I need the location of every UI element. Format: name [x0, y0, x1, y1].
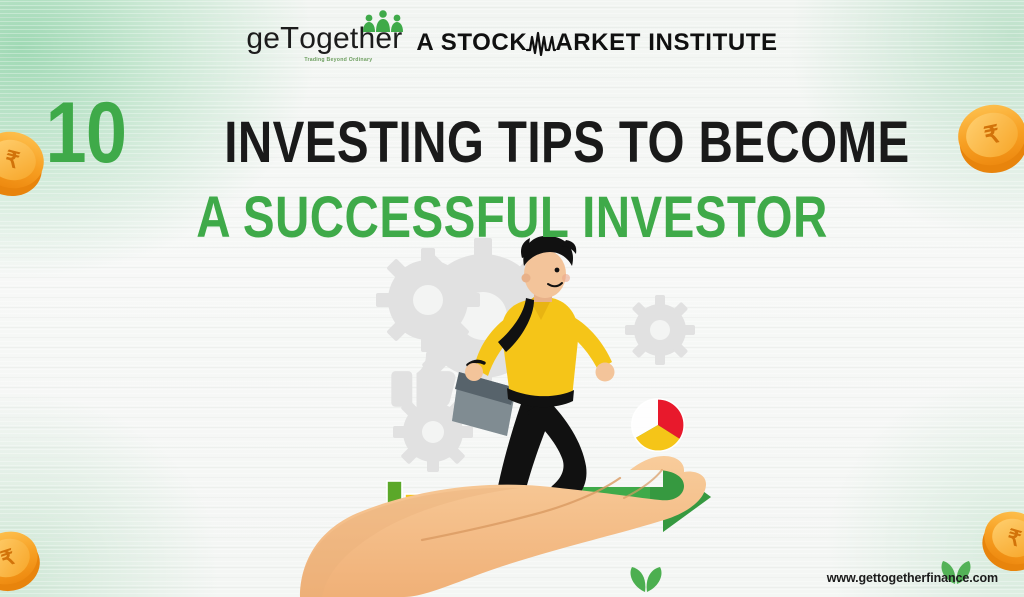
hero-illustration: ₹ ₹ ₹ ₹	[0, 0, 1024, 597]
headline-line-2: A SUCCESSFUL INVESTOR	[92, 189, 932, 247]
coin-bottom-left: ₹	[0, 524, 47, 597]
headline-number: 10	[46, 92, 127, 175]
pie-chart-decoration	[631, 398, 685, 452]
getogether-logo[interactable]: geTogether Trading Beyond Ordinary	[246, 22, 402, 63]
institute-title: A STOCK ARKET INSTITUTE	[416, 29, 777, 57]
logo-ge: ge	[246, 22, 280, 55]
investing-tips-banner: ₹ ₹ ₹ ₹	[0, 0, 1024, 597]
logo-tagline: Trading Beyond Ordinary	[304, 57, 372, 63]
logo-t: T	[280, 20, 299, 55]
institute-text-before: A STOCK	[416, 29, 527, 57]
headline-block: 10 INVESTING TIPS TO BECOME A SUCCESSFUL…	[0, 92, 1024, 247]
website-url[interactable]: www.gettogetherfinance.com	[827, 571, 998, 585]
coin-bottom-right: ₹	[976, 505, 1024, 578]
headline-line-1: 10 INVESTING TIPS TO BECOME	[0, 92, 1024, 175]
pulse-m-icon	[526, 30, 556, 56]
three-people-icon	[360, 9, 406, 33]
brand-header: geTogether Trading Beyond Ordinary A STO…	[0, 22, 1024, 63]
headline-line-1-text: INVESTING TIPS TO BECOME	[224, 115, 909, 171]
institute-text-after: ARKET INSTITUTE	[555, 29, 777, 57]
